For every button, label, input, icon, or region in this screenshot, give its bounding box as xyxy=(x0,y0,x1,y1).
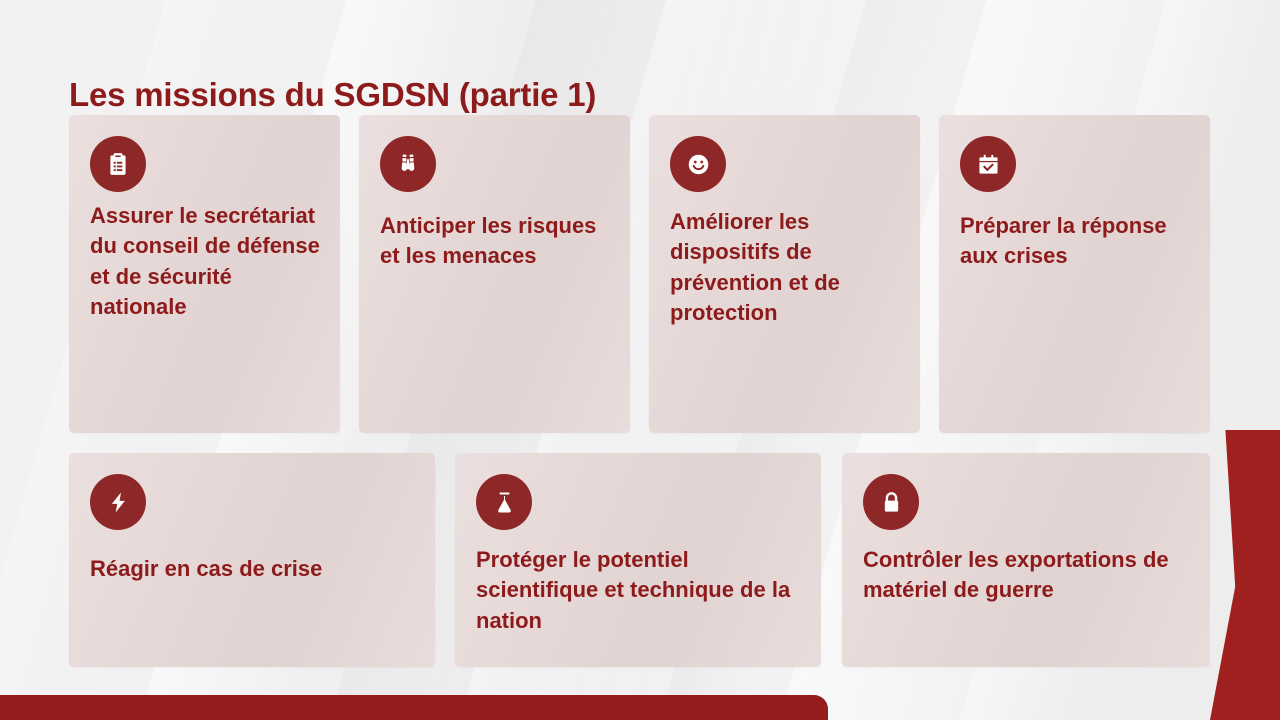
mission-card[interactable]: Réagir en cas de crise xyxy=(69,453,435,667)
bottom-accent-bar xyxy=(0,695,828,720)
mission-card[interactable]: Contrôler les exportations de matériel d… xyxy=(842,453,1210,667)
page-title: Les missions du SGDSN (partie 1) xyxy=(69,76,596,114)
binoculars-icon xyxy=(380,136,436,192)
mission-card[interactable]: Assurer le secrétariat du conseil de déf… xyxy=(69,115,340,433)
lock-icon xyxy=(863,474,919,530)
smiley-face-icon xyxy=(670,136,726,192)
mission-card-label: Améliorer les dispositifs de prévention … xyxy=(670,207,902,328)
mission-card-label: Préparer la réponse aux crises xyxy=(960,211,1192,272)
lightning-bolt-icon xyxy=(90,474,146,530)
mission-card-label: Anticiper les risques et les menaces xyxy=(380,211,612,272)
mission-card[interactable]: Anticiper les risques et les menaces xyxy=(359,115,630,433)
calendar-check-icon xyxy=(960,136,1016,192)
mission-card-label: Contrôler les exportations de matériel d… xyxy=(863,545,1192,606)
mission-card[interactable]: Préparer la réponse aux crises xyxy=(939,115,1210,433)
mission-card-label: Réagir en cas de crise xyxy=(90,554,417,584)
clipboard-list-icon xyxy=(90,136,146,192)
mission-card[interactable]: Protéger le potentiel scientifique et te… xyxy=(455,453,821,667)
mission-card[interactable]: Améliorer les dispositifs de prévention … xyxy=(649,115,920,433)
mission-card-label: Protéger le potentiel scientifique et te… xyxy=(476,545,803,636)
mission-card-label: Assurer le secrétariat du conseil de déf… xyxy=(90,201,322,322)
right-accent-wedge xyxy=(1210,430,1280,720)
flask-icon xyxy=(476,474,532,530)
slide-canvas: Les missions du SGDSN (partie 1) Assurer… xyxy=(0,0,1280,720)
